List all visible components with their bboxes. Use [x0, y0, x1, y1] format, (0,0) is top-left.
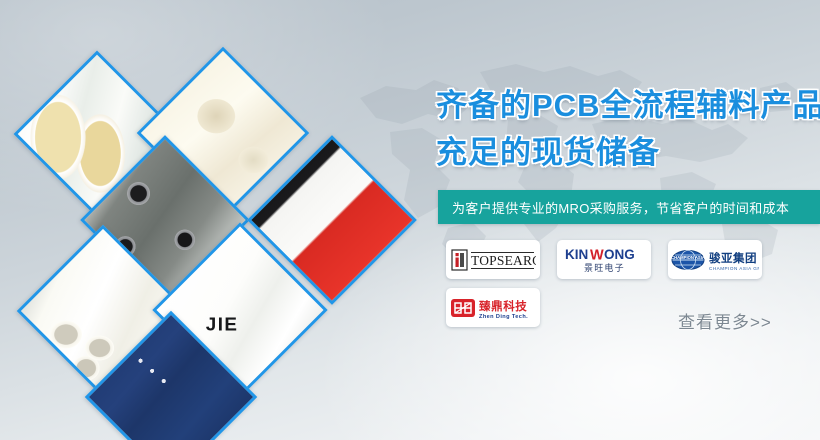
headline-line-2: 充足的现货储备: [436, 129, 820, 176]
svg-text:TOPSEARCH: TOPSEARCH: [471, 253, 536, 268]
promo-banner: 齐备的PCB全流程辅料产品、 充足的现货储备 为客户提供专业的MRO采购服务，节…: [0, 0, 820, 440]
svg-text:W: W: [590, 247, 604, 263]
headline-line-1: 齐备的PCB全流程辅料产品、: [436, 82, 820, 129]
svg-text:CHAMPION ASIA GROUP: CHAMPION ASIA GROUP: [709, 266, 759, 271]
logo-card-kinwong[interactable]: KIN W ONG 景旺电子: [557, 240, 651, 279]
svg-text:CHAMPION ASIA: CHAMPION ASIA: [671, 255, 705, 260]
headline: 齐备的PCB全流程辅料产品、 充足的现货储备: [436, 82, 820, 176]
subtitle-text: 为客户提供专业的MRO采购服务，节省客户的时间和成本: [452, 198, 789, 217]
subtitle-bar: 为客户提供专业的MRO采购服务，节省客户的时间和成本: [438, 190, 820, 224]
svg-text:臻鼎科技: 臻鼎科技: [479, 299, 527, 313]
product-diamond-collage: [0, 0, 430, 440]
svg-text:ONG: ONG: [604, 247, 635, 262]
svg-text:KIN: KIN: [565, 247, 588, 262]
svg-text:骏亚集团: 骏亚集团: [709, 251, 757, 265]
champion-asia-logo-icon: CHAMPION ASIA 骏亚集团 CHAMPION ASIA GROUP: [671, 246, 759, 274]
logo-card-champion-asia[interactable]: CHAMPION ASIA 骏亚集团 CHAMPION ASIA GROUP: [668, 240, 762, 279]
svg-text:Zhen Ding Tech.: Zhen Ding Tech.: [479, 314, 528, 320]
zhen-ding-logo-icon: 臻鼎科技 Zhen Ding Tech.: [449, 294, 537, 322]
topsearch-logo-icon: TOPSEARCH: [450, 247, 536, 273]
banner-content: 齐备的PCB全流程辅料产品、 充足的现货储备 为客户提供专业的MRO采购服务，节…: [430, 0, 820, 440]
svg-text:景旺电子: 景旺电子: [584, 262, 625, 273]
view-more-link[interactable]: 查看更多>>: [678, 308, 772, 333]
kinwong-logo-icon: KIN W ONG 景旺电子: [563, 245, 645, 275]
logo-card-zhen-ding[interactable]: 臻鼎科技 Zhen Ding Tech.: [446, 288, 540, 327]
logo-card-topsearch[interactable]: TOPSEARCH: [446, 240, 540, 279]
